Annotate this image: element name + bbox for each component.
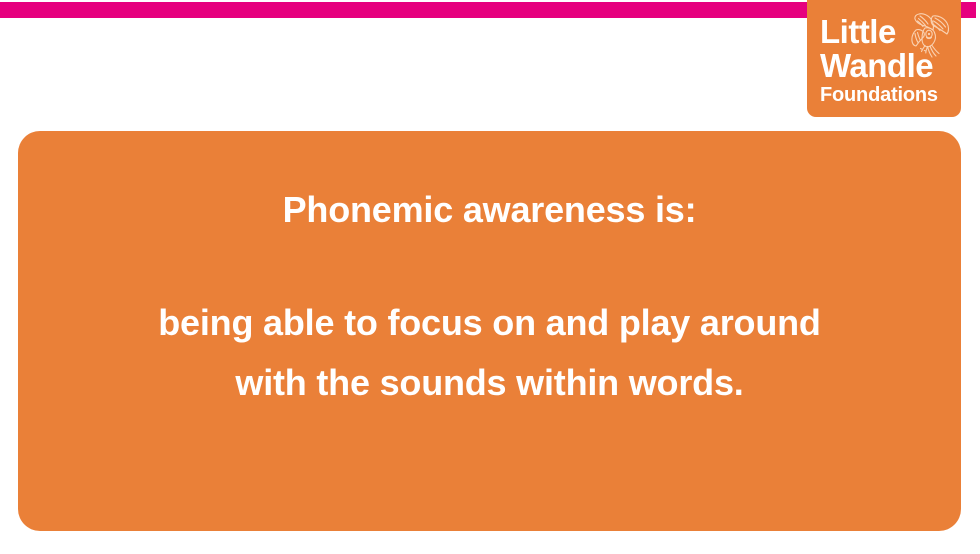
owl-icon [899, 10, 955, 62]
logo-line-foundations: Foundations [820, 85, 952, 105]
card-body: being able to focus on and play around w… [158, 293, 820, 413]
card-body-line-2: with the sounds within words. [158, 353, 820, 413]
slide-canvas: Little Wandle Foundations [0, 0, 980, 554]
card-body-line-1: being able to focus on and play around [158, 293, 820, 353]
brand-logo[interactable]: Little Wandle Foundations [807, 0, 961, 117]
content-card: Phonemic awareness is: being able to foc… [18, 131, 961, 531]
card-heading: Phonemic awareness is: [283, 189, 697, 231]
